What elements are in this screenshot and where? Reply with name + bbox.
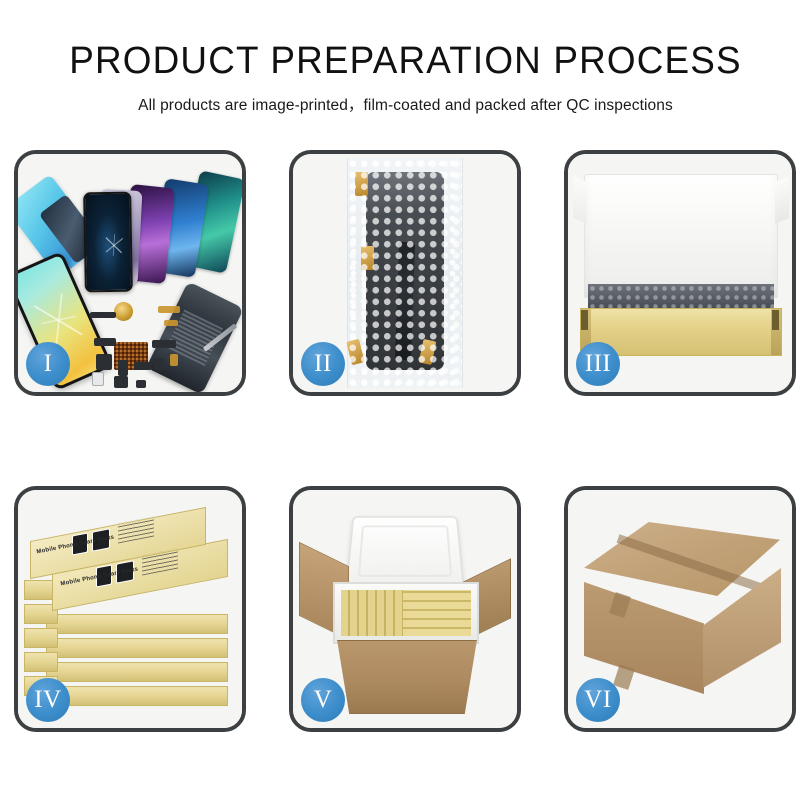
process-step-panel-6[interactable]: VI — [564, 486, 796, 732]
step-badge-4: IV — [26, 678, 70, 722]
page-subtitle: All products are image-printed，film-coat… — [0, 93, 811, 115]
process-step-panel-4[interactable]: Mobile Phone Spare Parts Mobile Phone Sp… — [14, 486, 246, 732]
step-badge-2: II — [301, 342, 345, 386]
step-badge-6: VI — [576, 678, 620, 722]
process-steps-grid: I II III — [14, 150, 797, 732]
process-step-panel-1[interactable]: I — [14, 150, 246, 396]
process-step-panel-5[interactable]: V — [289, 486, 521, 732]
step-badge-1: I — [26, 342, 70, 386]
process-step-panel-3[interactable]: III — [564, 150, 796, 396]
step-badge-5: V — [301, 678, 345, 722]
process-step-panel-2[interactable]: II — [289, 150, 521, 396]
page-header: PRODUCT PREPARATION PROCESS All products… — [0, 0, 811, 115]
page-title: PRODUCT PREPARATION PROCESS — [12, 42, 799, 82]
step-badge-3: III — [576, 342, 620, 386]
